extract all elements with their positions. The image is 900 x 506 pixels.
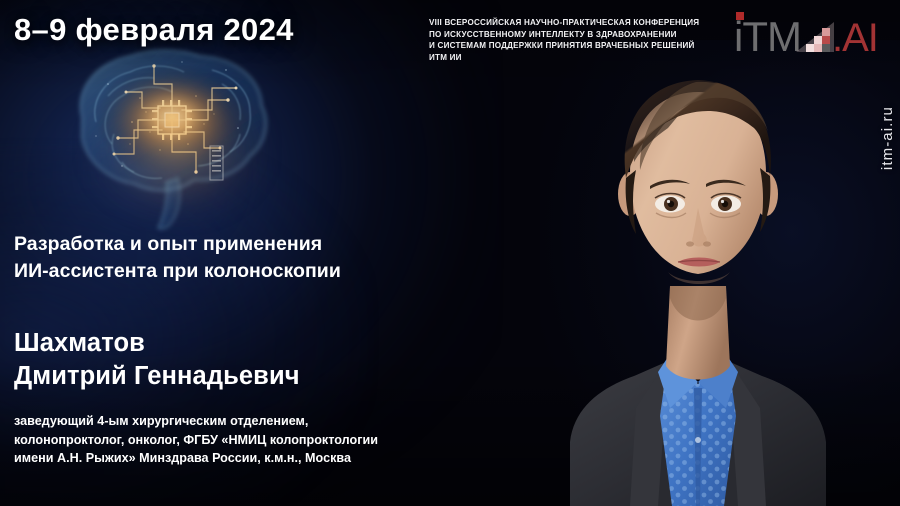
itm-ai-logo[interactable]: iTM .AI <box>734 10 884 56</box>
speaker-role-line-2: колонопроктолог, онколог, ФГБУ «НМИЦ кол… <box>14 431 514 450</box>
speaker-role: заведующий 4-ым хирургическим отделением… <box>14 412 514 468</box>
speaker-role-line-1: заведующий 4-ым хирургическим отделением… <box>14 412 514 431</box>
conference-description-line-2: ПО ИСКУССТВЕННОМУ ИНТЕЛЛЕКТУ В ЗДРАВОХРА… <box>429 29 729 41</box>
presentation-slide: 8–9 февраля 2024 VIII ВСЕРОССИЙСКАЯ НАУЧ… <box>0 0 900 506</box>
conference-description: VIII ВСЕРОССИЙСКАЯ НАУЧНО-ПРАКТИЧЕСКАЯ К… <box>429 17 729 64</box>
speaker-role-line-3: имени А.Н. Рыжих» Минздрава России, к.м.… <box>14 449 514 468</box>
talk-title-line-2: ИИ-ассистента при колоноскопии <box>14 258 454 285</box>
svg-text:iTM: iTM <box>734 13 801 56</box>
speaker-name: Шахматов Дмитрий Геннадьевич <box>14 327 484 393</box>
website-url-vertical[interactable]: itm-ai.ru <box>879 106 896 170</box>
event-date: 8–9 февраля 2024 <box>14 12 294 48</box>
conference-description-line-3: И СИСТЕМАМ ПОДДЕРЖКИ ПРИНЯТИЯ ВРАЧЕБНЫХ … <box>429 40 729 52</box>
conference-description-line-1: VIII ВСЕРОССИЙСКАЯ НАУЧНО-ПРАКТИЧЕСКАЯ К… <box>429 17 729 29</box>
speaker-first-patronymic: Дмитрий Геннадьевич <box>14 360 484 393</box>
svg-text:.AI: .AI <box>832 16 878 56</box>
talk-title: Разработка и опыт применения ИИ-ассистен… <box>14 231 454 284</box>
talk-title-line-1: Разработка и опыт применения <box>14 231 454 258</box>
conference-description-line-4: ИТМ ИИ <box>429 52 729 64</box>
speaker-portrait <box>518 36 878 506</box>
speaker-last-name: Шахматов <box>14 327 484 360</box>
